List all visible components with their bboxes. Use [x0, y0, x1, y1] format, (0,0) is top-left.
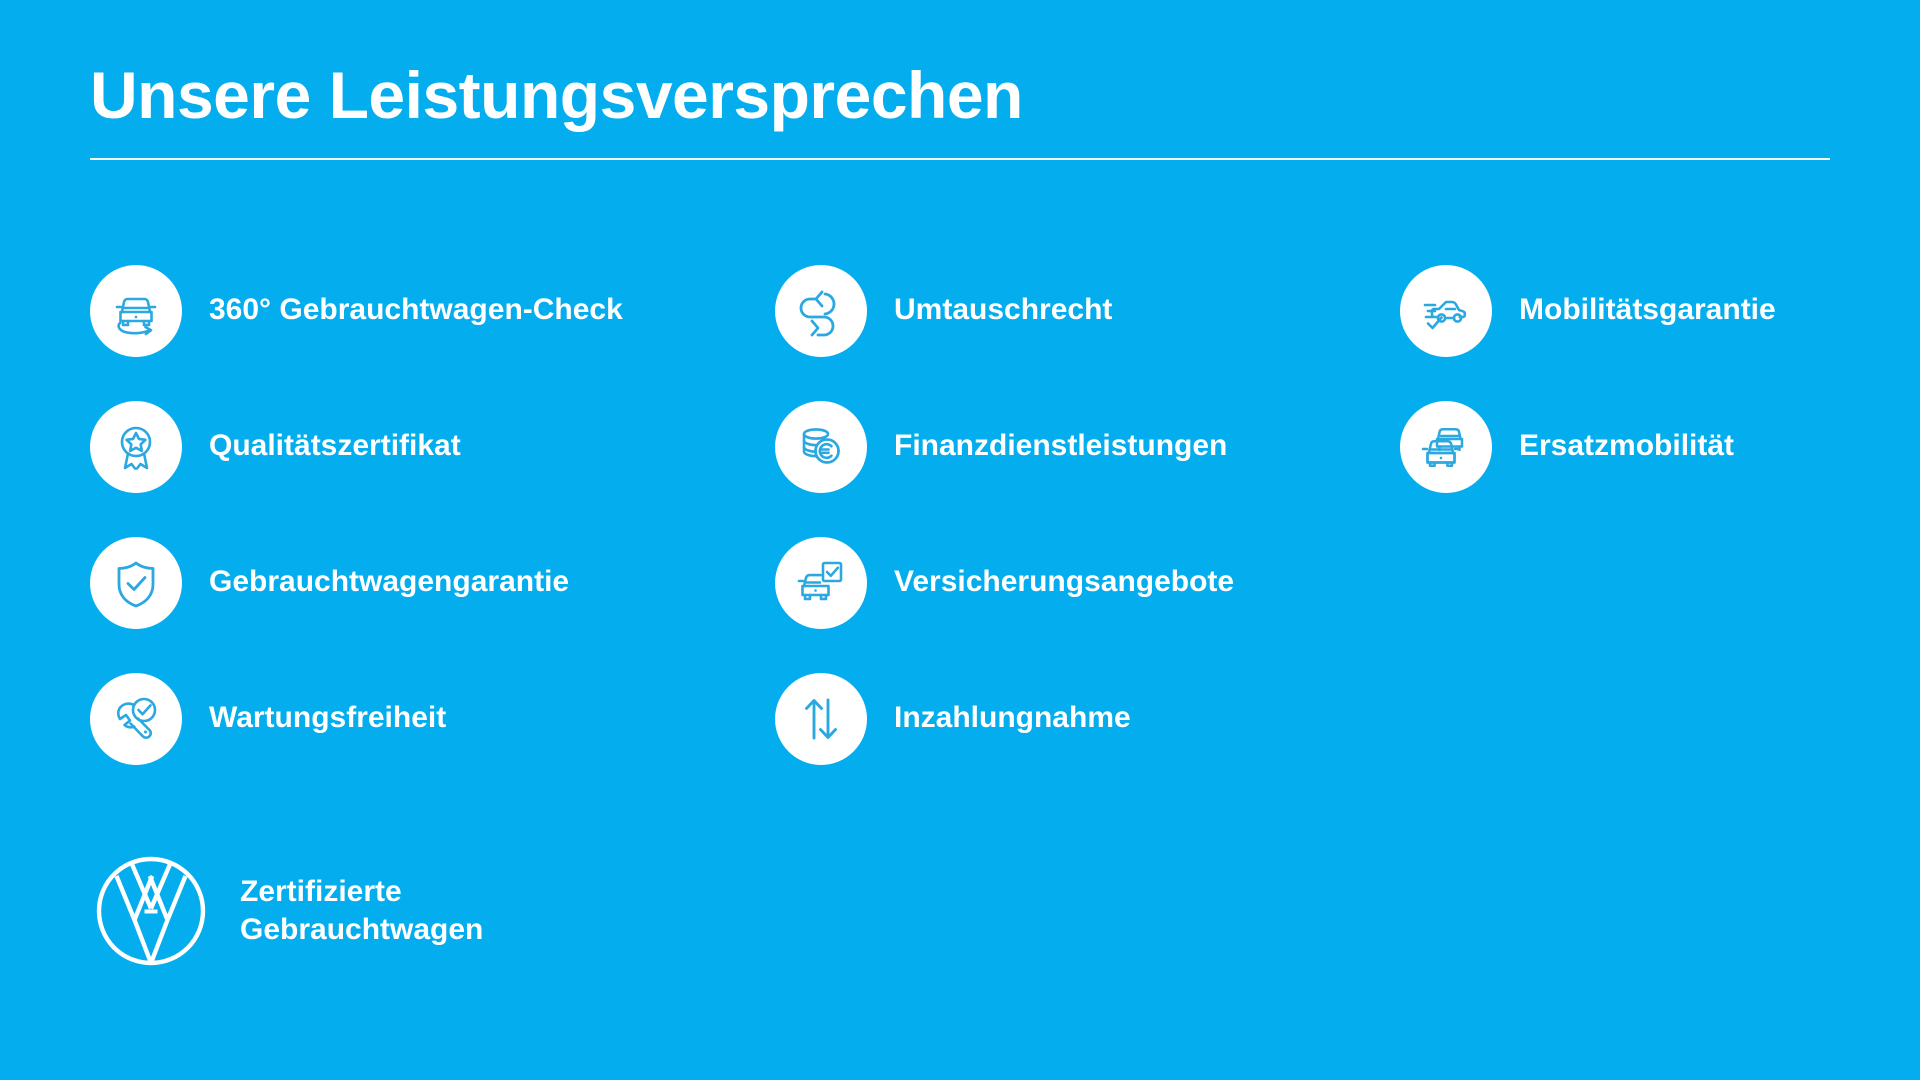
brand-text: Zertifizierte Gebrauchtwagen [240, 873, 483, 950]
up-down-arrows-icon [775, 673, 867, 765]
promise-label: Umtauschrecht [894, 293, 1112, 328]
promise-item-insurance-offers[interactable]: Versicherungsangebote [775, 534, 1234, 631]
promise-label: Wartungsfreiheit [209, 701, 446, 736]
promise-item-360-check[interactable]: 360° Gebrauchtwagen-Check [90, 262, 623, 359]
brand-lockup: Zertifizierte Gebrauchtwagen [90, 850, 483, 972]
car-360-check-icon [90, 265, 182, 357]
title-divider [90, 158, 1830, 160]
two-cars-icon [1400, 401, 1492, 493]
volkswagen-logo-icon [90, 850, 212, 972]
wrench-check-icon [90, 673, 182, 765]
promise-label: Finanzdienstleistungen [894, 429, 1227, 464]
promise-label: Qualitätszertifikat [209, 429, 461, 464]
header: Unsere Leistungsversprechen [90, 62, 1830, 160]
promise-item-quality-certificate[interactable]: Qualitätszertifikat [90, 398, 623, 495]
promise-item-exchange-right[interactable]: Umtauschrecht [775, 262, 1234, 359]
promise-item-financial-services[interactable]: Finanzdienstleistungen [775, 398, 1234, 495]
promise-panel: Unsere Leistungsversprechen [0, 0, 1920, 1080]
promise-label: Inzahlungnahme [894, 701, 1131, 736]
promise-label: Ersatzmobilität [1519, 429, 1734, 464]
promise-item-used-car-warranty[interactable]: Gebrauchtwagengarantie [90, 534, 623, 631]
promise-column-2: Umtauschrecht Finanz [775, 262, 1234, 767]
promise-label: Mobilitätsgarantie [1519, 293, 1776, 328]
promise-item-trade-in[interactable]: Inzahlungnahme [775, 670, 1234, 767]
car-speed-check-icon [1400, 265, 1492, 357]
promise-label: 360° Gebrauchtwagen-Check [209, 293, 623, 328]
promise-item-maintenance-free[interactable]: Wartungsfreiheit [90, 670, 623, 767]
promise-column-1: 360° Gebrauchtwagen-Check Qualitätszerti… [90, 262, 623, 767]
exchange-arrows-icon [775, 265, 867, 357]
shield-check-icon [90, 537, 182, 629]
promise-column-3: Mobilitätsgarantie [1400, 262, 1776, 495]
coins-euro-icon [775, 401, 867, 493]
car-checkbox-icon [775, 537, 867, 629]
promise-item-replacement-mobility[interactable]: Ersatzmobilität [1400, 398, 1776, 495]
promise-label: Gebrauchtwagengarantie [209, 565, 569, 600]
page-title: Unsere Leistungsversprechen [90, 62, 1830, 128]
promise-item-mobility-guarantee[interactable]: Mobilitätsgarantie [1400, 262, 1776, 359]
promise-label: Versicherungsangebote [894, 565, 1234, 600]
quality-medal-icon [90, 401, 182, 493]
